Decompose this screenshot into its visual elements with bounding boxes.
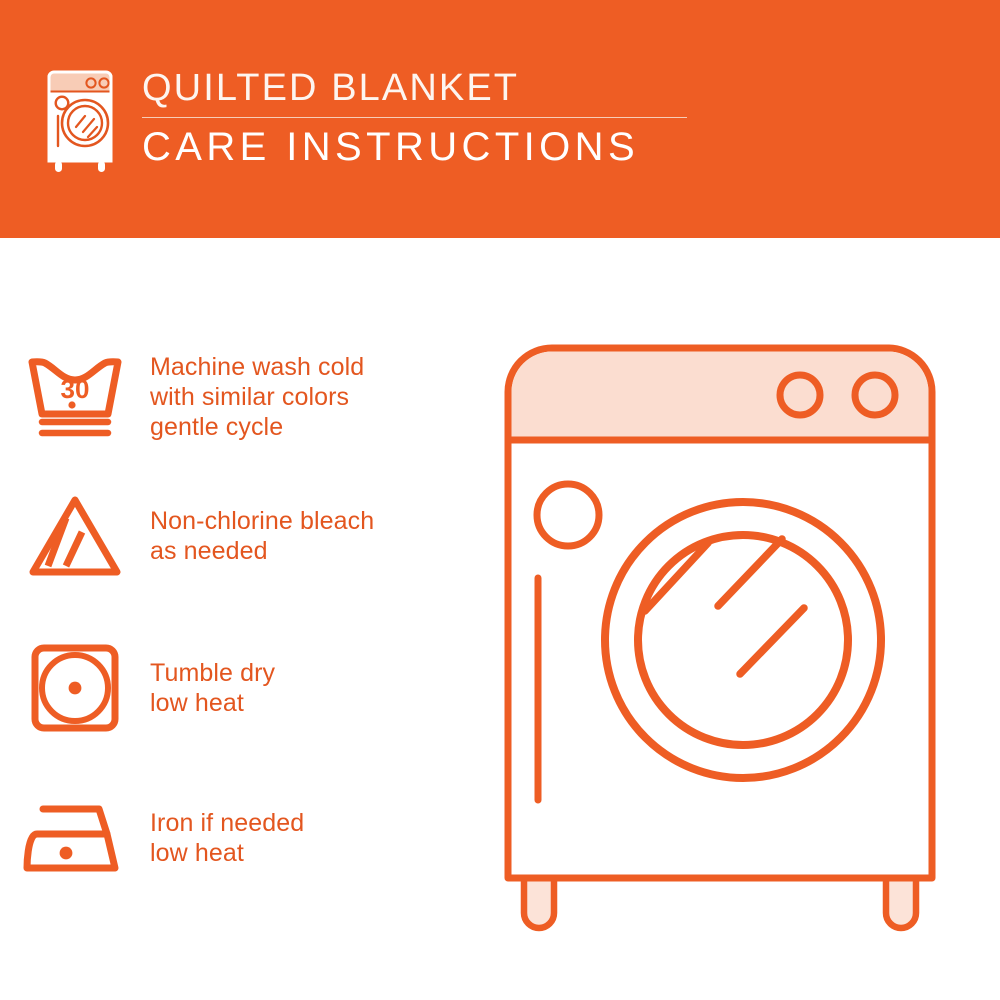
page-title: QUILTED BLANKET xyxy=(142,66,702,110)
machine-legs xyxy=(524,875,916,928)
care-row-bleach: Non-chlorine bleach as needed xyxy=(0,476,480,596)
care-line: Tumble dry xyxy=(150,658,480,688)
title-divider xyxy=(142,117,687,118)
wash-temperature-label: 30 xyxy=(61,374,90,404)
header-banner: QUILTED BLANKET CARE INSTRUCTIONS xyxy=(0,0,1000,238)
non-chlorine-bleach-triangle-icon xyxy=(0,492,150,580)
care-line: Iron if needed xyxy=(150,808,480,838)
care-line: Machine wash cold xyxy=(150,352,480,382)
care-line: with similar colors xyxy=(150,382,480,412)
care-instructions-page: QUILTED BLANKET CARE INSTRUCTIONS 30 xyxy=(0,0,1000,1000)
care-line: as needed xyxy=(150,536,480,566)
care-row-machine-wash: 30 Machine wash cold with similar colors… xyxy=(0,332,480,462)
iron-low-heat-icon xyxy=(0,800,150,876)
care-text-tumble-dry: Tumble dry low heat xyxy=(150,658,480,718)
control-panel xyxy=(512,352,929,440)
care-row-iron: Iron if needed low heat xyxy=(0,778,480,898)
care-text-bleach: Non-chlorine bleach as needed xyxy=(150,506,480,566)
care-line: Non-chlorine bleach xyxy=(150,506,480,536)
care-line: low heat xyxy=(150,688,480,718)
care-row-tumble-dry: Tumble dry low heat xyxy=(0,628,480,748)
care-text-iron: Iron if needed low heat xyxy=(150,808,480,868)
header-title-group: QUILTED BLANKET CARE INSTRUCTIONS xyxy=(142,66,702,170)
page-subtitle: CARE INSTRUCTIONS xyxy=(142,124,702,170)
tumble-dry-low-heat-icon xyxy=(0,642,150,734)
care-text-machine-wash: Machine wash cold with similar colors ge… xyxy=(150,352,480,442)
care-line: low heat xyxy=(150,838,480,868)
washing-machine-illustration xyxy=(490,330,970,950)
care-instructions-list: 30 Machine wash cold with similar colors… xyxy=(0,238,480,1000)
care-line: gentle cycle xyxy=(150,412,480,442)
washing-machine-icon xyxy=(44,66,122,176)
machine-wash-30-gentle-icon: 30 xyxy=(0,354,150,440)
